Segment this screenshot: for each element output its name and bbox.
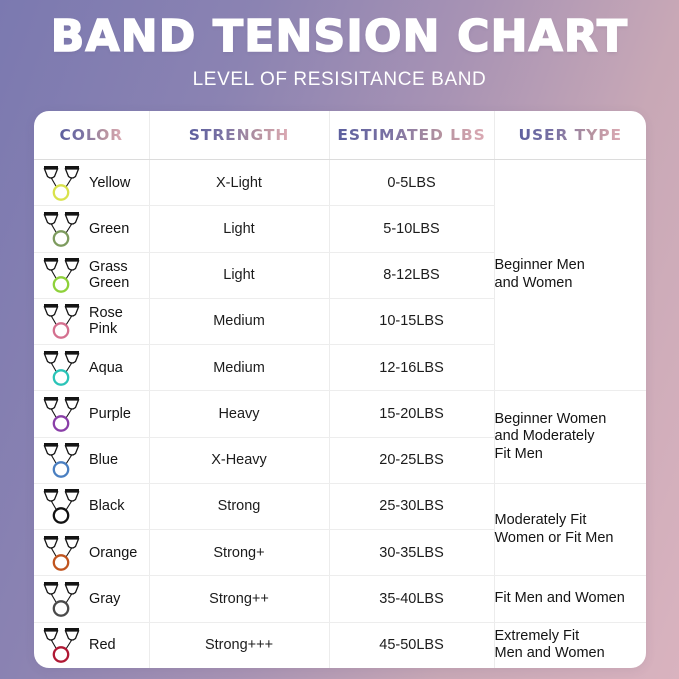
estimated-lbs-value: 30-35LBS: [330, 545, 494, 561]
cell-estimated-lbs: 8-12LBS: [329, 252, 494, 298]
column-header-strength-label: STRENGTH: [189, 126, 289, 144]
cell-strength: Medium: [149, 298, 329, 344]
cell-color: Yellow: [34, 160, 149, 206]
cell-color: Blue: [34, 437, 149, 483]
column-header-estimated-lbs: ESTIMATED LBS: [329, 111, 494, 160]
user-type-value: Beginner Womenand ModeratelyFit Men: [495, 411, 647, 464]
resistance-band-icon: [41, 255, 83, 295]
color-name: Aqua: [89, 360, 123, 376]
estimated-lbs-value: 35-40LBS: [330, 591, 494, 607]
cell-estimated-lbs: 25-30LBS: [329, 483, 494, 529]
estimated-lbs-value: 25-30LBS: [330, 498, 494, 514]
strength-value: Light: [150, 267, 329, 283]
page-title: BAND TENSION CHART: [0, 14, 679, 60]
user-type-value: Extremely FitMen and Women: [495, 628, 647, 663]
column-header-strength: STRENGTH: [149, 111, 329, 160]
strength-value: Strong++: [150, 591, 329, 607]
color-name: RosePink: [89, 305, 123, 337]
color-name: Red: [89, 637, 116, 653]
cell-estimated-lbs: 45-50LBS: [329, 622, 494, 668]
strength-value: Strong: [150, 498, 329, 514]
cell-estimated-lbs: 20-25LBS: [329, 437, 494, 483]
resistance-band-icon: [41, 625, 83, 665]
estimated-lbs-value: 8-12LBS: [330, 267, 494, 283]
cell-strength: Strong+: [149, 530, 329, 576]
user-type-value: Fit Men and Women: [495, 590, 647, 608]
cell-strength: Strong++: [149, 576, 329, 622]
cell-estimated-lbs: 10-15LBS: [329, 298, 494, 344]
color-name: Purple: [89, 406, 131, 422]
color-name: Gray: [89, 591, 120, 607]
column-header-user-type-label: USER TYPE: [518, 126, 622, 144]
resistance-band-icon: [41, 301, 83, 341]
cell-estimated-lbs: 0-5LBS: [329, 160, 494, 206]
cell-color: Aqua: [34, 345, 149, 391]
table-row: BlackStrong25-30LBSModerately FitWomen o…: [34, 483, 646, 529]
estimated-lbs-value: 45-50LBS: [330, 637, 494, 653]
color-name: Black: [89, 498, 124, 514]
resistance-band-icon: [41, 579, 83, 619]
cell-estimated-lbs: 35-40LBS: [329, 576, 494, 622]
color-name: Yellow: [89, 175, 130, 191]
cell-color: Green: [34, 206, 149, 252]
cell-strength: X-Light: [149, 160, 329, 206]
table-row: PurpleHeavy15-20LBSBeginner Womenand Mod…: [34, 391, 646, 437]
cell-color: RosePink: [34, 298, 149, 344]
cell-user-type: Fit Men and Women: [494, 576, 646, 622]
cell-user-type: Beginner Womenand ModeratelyFit Men: [494, 391, 646, 484]
cell-color: Gray: [34, 576, 149, 622]
estimated-lbs-value: 20-25LBS: [330, 452, 494, 468]
resistance-band-icon: [41, 533, 83, 573]
color-name: GrassGreen: [89, 259, 129, 291]
cell-color: Purple: [34, 391, 149, 437]
table-row: YellowX-Light0-5LBSBeginner Menand Women: [34, 160, 646, 206]
strength-value: X-Light: [150, 175, 329, 191]
table-header-row: COLOR STRENGTH ESTIMATED LBS USER TYPE: [34, 111, 646, 160]
strength-value: Strong+: [150, 545, 329, 561]
table-header: COLOR STRENGTH ESTIMATED LBS USER TYPE: [34, 111, 646, 160]
cell-color: Orange: [34, 530, 149, 576]
resistance-band-icon: [41, 486, 83, 526]
cell-estimated-lbs: 30-35LBS: [329, 530, 494, 576]
cell-strength: Strong+++: [149, 622, 329, 668]
strength-value: Medium: [150, 313, 329, 329]
estimated-lbs-value: 0-5LBS: [330, 175, 494, 191]
cell-user-type: Moderately FitWomen or Fit Men: [494, 483, 646, 576]
chart-card: COLOR STRENGTH ESTIMATED LBS USER TYPE Y…: [34, 111, 646, 668]
resistance-band-icon: [41, 394, 83, 434]
cell-estimated-lbs: 12-16LBS: [329, 345, 494, 391]
resistance-band-icon: [41, 440, 83, 480]
cell-strength: X-Heavy: [149, 437, 329, 483]
strength-value: Light: [150, 221, 329, 237]
table-row: RedStrong+++45-50LBSExtremely FitMen and…: [34, 622, 646, 668]
column-header-estimated-lbs-label: ESTIMATED LBS: [337, 126, 485, 144]
cell-color: Black: [34, 483, 149, 529]
column-header-user-type: USER TYPE: [494, 111, 646, 160]
strength-value: Heavy: [150, 406, 329, 422]
estimated-lbs-value: 10-15LBS: [330, 313, 494, 329]
estimated-lbs-value: 5-10LBS: [330, 221, 494, 237]
strength-value: X-Heavy: [150, 452, 329, 468]
page-subtitle: LEVEL OF RESISITANCE BAND: [0, 69, 679, 91]
user-type-value: Beginner Menand Women: [495, 257, 647, 292]
cell-estimated-lbs: 15-20LBS: [329, 391, 494, 437]
cell-estimated-lbs: 5-10LBS: [329, 206, 494, 252]
cell-strength: Medium: [149, 345, 329, 391]
cell-strength: Light: [149, 252, 329, 298]
cell-strength: Light: [149, 206, 329, 252]
cell-user-type: Extremely FitMen and Women: [494, 622, 646, 668]
cell-color: GrassGreen: [34, 252, 149, 298]
resistance-band-icon: [41, 209, 83, 249]
strength-value: Medium: [150, 360, 329, 376]
estimated-lbs-value: 15-20LBS: [330, 406, 494, 422]
cell-strength: Heavy: [149, 391, 329, 437]
column-header-color-label: COLOR: [60, 126, 124, 144]
table-row: GrayStrong++35-40LBSFit Men and Women: [34, 576, 646, 622]
cell-color: Red: [34, 622, 149, 668]
resistance-band-icon: [41, 163, 83, 203]
user-type-value: Moderately FitWomen or Fit Men: [495, 512, 647, 547]
color-name: Orange: [89, 545, 137, 561]
cell-user-type: Beginner Menand Women: [494, 160, 646, 391]
band-tension-table: COLOR STRENGTH ESTIMATED LBS USER TYPE Y…: [34, 111, 646, 668]
color-name: Blue: [89, 452, 118, 468]
cell-strength: Strong: [149, 483, 329, 529]
column-header-color: COLOR: [34, 111, 149, 160]
strength-value: Strong+++: [150, 637, 329, 653]
resistance-band-icon: [41, 348, 83, 388]
table-body: YellowX-Light0-5LBSBeginner Menand Women…: [34, 160, 646, 669]
color-name: Green: [89, 221, 129, 237]
estimated-lbs-value: 12-16LBS: [330, 360, 494, 376]
poster-header: BAND TENSION CHART LEVEL OF RESISITANCE …: [0, 0, 679, 91]
